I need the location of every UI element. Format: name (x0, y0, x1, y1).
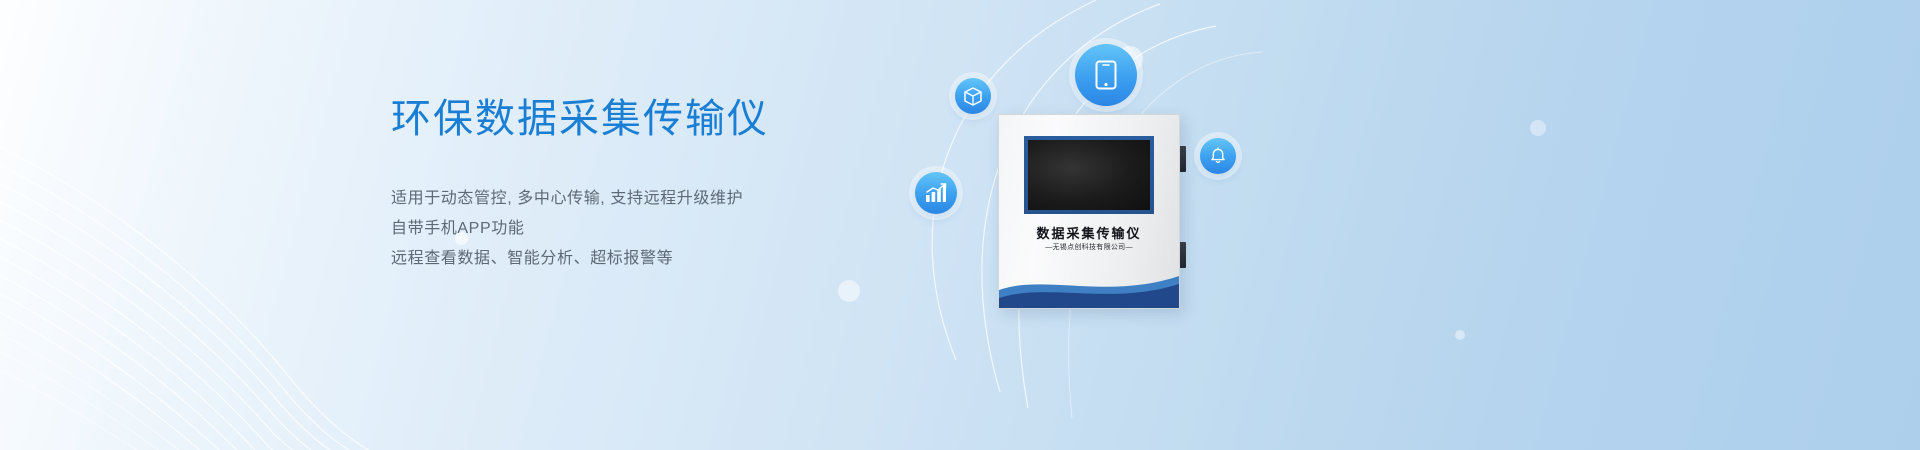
device-screen-bezel (1024, 136, 1154, 214)
product-visual: 数据采集传输仪 —无锡点创科技有限公司— (860, 0, 1660, 450)
device-title: 数据采集传输仪 (999, 223, 1179, 242)
device-enclosure: 数据采集传输仪 —无锡点创科技有限公司— (998, 114, 1180, 309)
chip-cube[interactable] (955, 78, 991, 114)
alarm-icon (1209, 147, 1227, 165)
device-side-connector (1179, 242, 1186, 268)
chart-icon (925, 183, 947, 203)
chip-alarm[interactable] (1200, 138, 1236, 174)
device-screen (1028, 140, 1150, 210)
phone-icon (1095, 60, 1117, 90)
device-wave-graphic (999, 260, 1179, 308)
device-photo: 数据采集传输仪 —无锡点创科技有限公司— (998, 114, 1180, 309)
cube-icon (964, 87, 982, 106)
device-side-connector (1179, 146, 1186, 172)
orbit-arcs (860, 0, 1660, 450)
device-company: —无锡点创科技有限公司— (999, 242, 1179, 252)
decorative-bubble (838, 280, 860, 302)
product-banner: 环保数据采集传输仪 适用于动态管控, 多中心传输, 支持远程升级维护 自带手机A… (0, 0, 1920, 450)
chip-chart[interactable] (915, 172, 957, 214)
chip-phone[interactable] (1075, 44, 1137, 106)
